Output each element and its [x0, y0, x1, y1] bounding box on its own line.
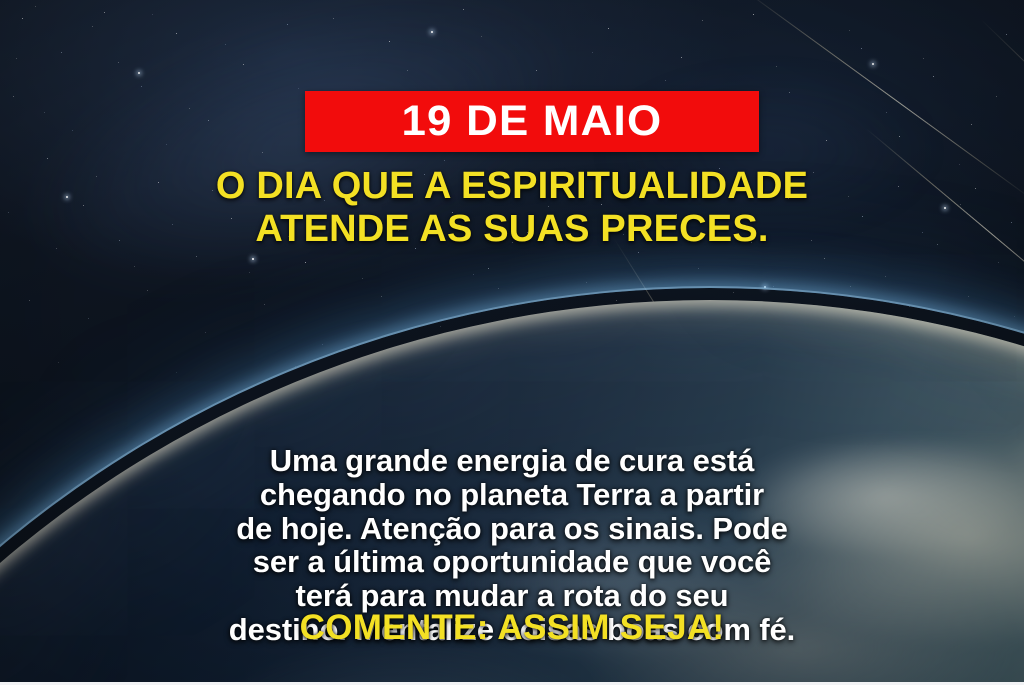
date-banner-text: 19 DE MAIO — [402, 100, 663, 143]
poster-canvas: 19 DE MAIO O DIA QUE A ESPIRITUALIDADE A… — [0, 0, 1024, 685]
body-line-4: ser a última oportunidade que você — [46, 545, 978, 579]
call-to-action-text: COMENTE: ASSIM SEJA! — [0, 610, 1024, 645]
body-line-3: de hoje. Atenção para os sinais. Pode — [46, 512, 978, 546]
poster-content: 19 DE MAIO O DIA QUE A ESPIRITUALIDADE A… — [0, 0, 1024, 685]
headline: O DIA QUE A ESPIRITUALIDADE ATENDE AS SU… — [0, 165, 1024, 250]
body-line-1: Uma grande energia de cura está — [46, 444, 978, 478]
headline-line-1: O DIA QUE A ESPIRITUALIDADE — [48, 165, 976, 208]
date-banner: 19 DE MAIO — [305, 91, 759, 152]
headline-line-2: ATENDE AS SUAS PRECES. — [48, 208, 976, 251]
body-line-2: chegando no planeta Terra a partir — [46, 478, 978, 512]
